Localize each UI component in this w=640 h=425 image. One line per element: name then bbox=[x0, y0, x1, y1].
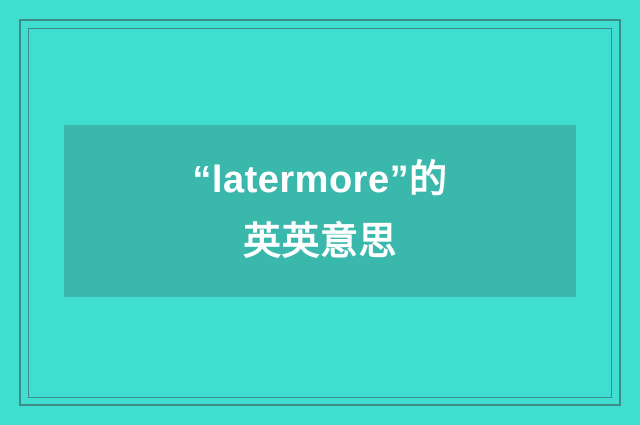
headline-text: “latermore”的英英意思 bbox=[174, 149, 466, 273]
headline-banner: “latermore”的英英意思 bbox=[64, 125, 576, 297]
text-card: “latermore”的英英意思 bbox=[0, 0, 640, 425]
